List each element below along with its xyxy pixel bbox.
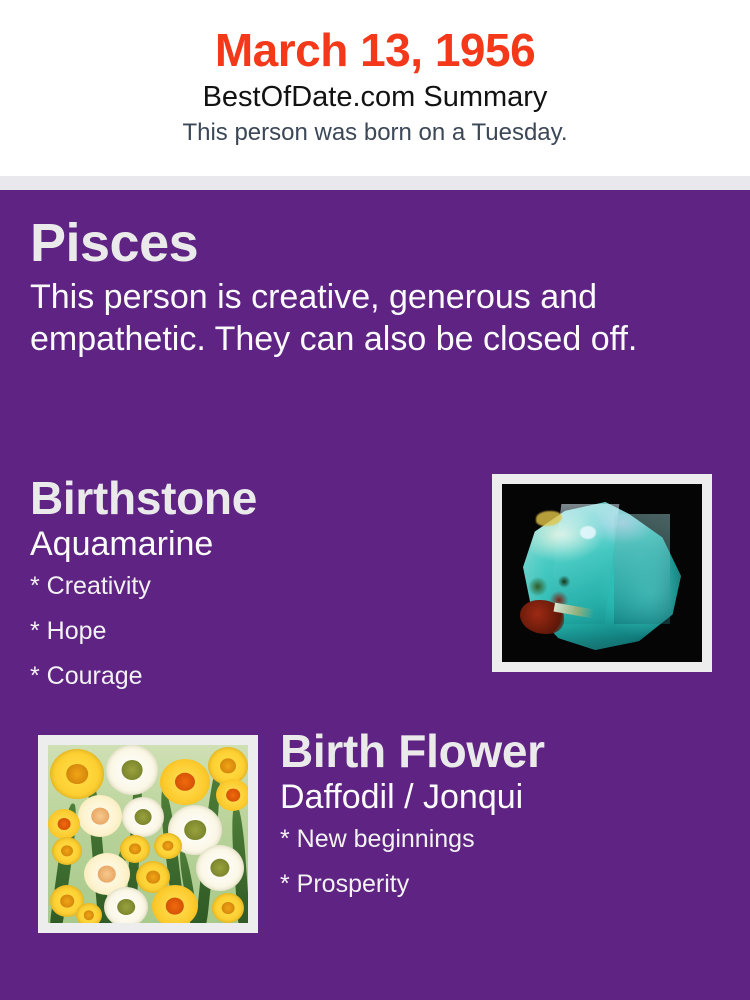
details-panel: Pisces This person is creative, generous… bbox=[0, 190, 750, 1000]
daffodil-bloom bbox=[154, 833, 182, 859]
crystal-glint-icon bbox=[580, 526, 596, 539]
birthstone-title: Birthstone bbox=[30, 472, 480, 524]
birth-flower-trait-1: * Prosperity bbox=[280, 862, 720, 907]
birthstone-text-block: Birthstone Aquamarine * Creativity * Hop… bbox=[30, 472, 480, 699]
daffodil-bloom bbox=[106, 745, 158, 795]
birthstone-trait-0: * Creativity bbox=[30, 564, 480, 609]
daffodil-bloom bbox=[216, 779, 248, 811]
crystal-facet-icon bbox=[614, 514, 670, 624]
birthstone-image-frame bbox=[492, 474, 712, 672]
daffodil-bloom bbox=[50, 749, 104, 799]
birth-flower-trait-0: * New beginnings bbox=[280, 817, 720, 862]
daffodil-bloom bbox=[52, 837, 82, 865]
birthstone-section: Birthstone Aquamarine * Creativity * Hop… bbox=[0, 472, 750, 702]
birthstone-trait-2: * Courage bbox=[30, 654, 480, 699]
zodiac-description: This person is creative, generous and em… bbox=[30, 276, 702, 360]
birth-flower-text-block: Birth Flower Daffodil / Jonqui * New beg… bbox=[280, 725, 720, 907]
daffodil-bloom bbox=[120, 835, 150, 863]
birth-flower-title: Birth Flower bbox=[280, 725, 720, 777]
header-divider bbox=[0, 176, 750, 190]
summary-page: March 13, 1956 BestOfDate.com Summary Th… bbox=[0, 0, 750, 1000]
daffodil-bloom bbox=[212, 893, 244, 923]
aquamarine-crystal-image bbox=[502, 484, 702, 662]
zodiac-section: Pisces This person is creative, generous… bbox=[30, 212, 720, 360]
birth-flower-section: Birth Flower Daffodil / Jonqui * New beg… bbox=[0, 735, 750, 955]
daffodil-bloom bbox=[78, 795, 122, 837]
page-title-date: March 13, 1956 bbox=[0, 22, 750, 78]
daffodil-bloom bbox=[48, 809, 80, 839]
daffodil-bloom bbox=[122, 797, 164, 837]
zodiac-sign-name: Pisces bbox=[30, 212, 720, 274]
birth-flower-name: Daffodil / Jonqui bbox=[280, 777, 720, 817]
daffodil-field-image bbox=[48, 745, 248, 923]
daffodil-bloom bbox=[160, 759, 210, 805]
birthstone-trait-1: * Hope bbox=[30, 609, 480, 654]
daffodil-bloom bbox=[104, 887, 148, 923]
weekday-statement: This person was born on a Tuesday. bbox=[0, 116, 750, 149]
site-summary-label: BestOfDate.com Summary bbox=[0, 78, 750, 116]
daffodil-bloom bbox=[152, 885, 198, 923]
daffodil-bloom bbox=[196, 845, 244, 891]
page-header: March 13, 1956 BestOfDate.com Summary Th… bbox=[0, 0, 750, 176]
daffodil-bloom bbox=[76, 903, 102, 923]
birth-flower-image-frame bbox=[38, 735, 258, 933]
birthstone-name: Aquamarine bbox=[30, 524, 480, 564]
